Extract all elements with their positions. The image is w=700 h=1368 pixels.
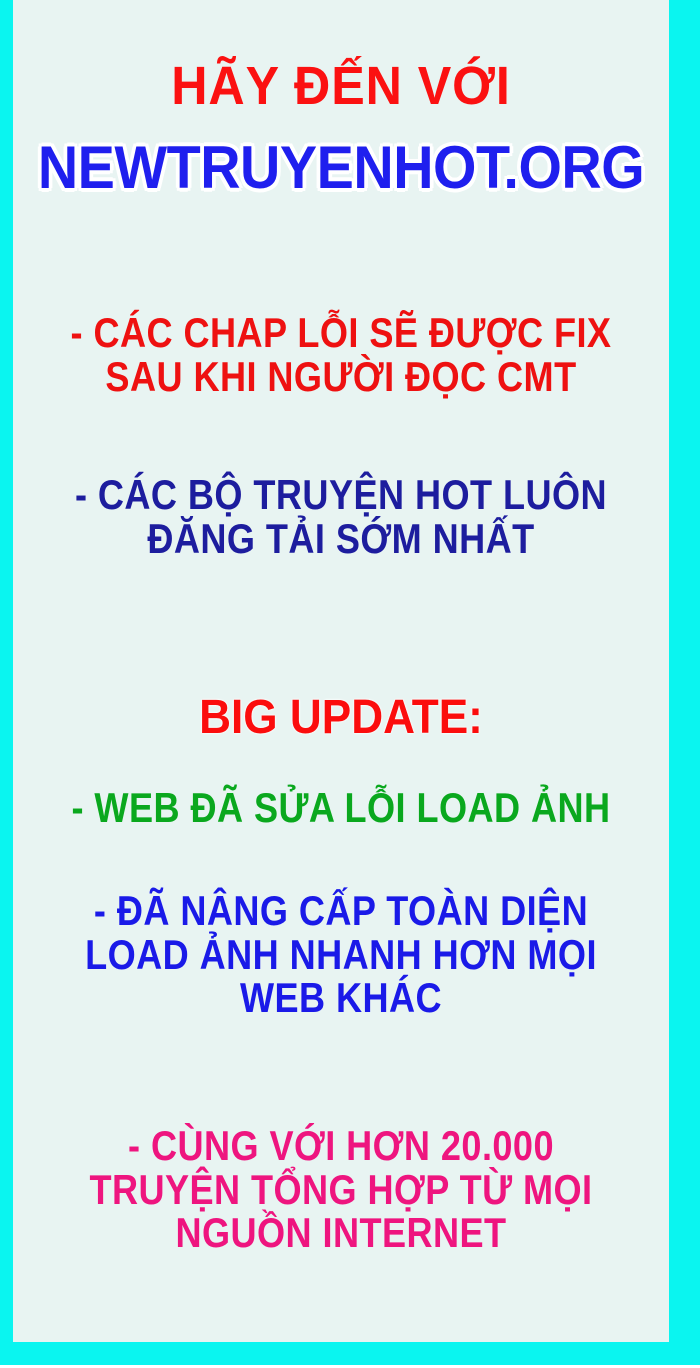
notice-fix-line-1: - CÁC CHAP LỖI SẼ ĐƯỢC FIX <box>59 311 623 355</box>
site-url-block[interactable]: NEWTRUYENHOT.ORG <box>13 137 669 199</box>
update-heading-block: BIG UPDATE: <box>13 693 669 743</box>
notice-hot-line-2: ĐĂNG TẢI SỚM NHẤT <box>59 517 623 561</box>
update-count-line-1: - CÙNG VỚI HƠN 20.000 <box>59 1124 623 1168</box>
update-heading-text: BIG UPDATE: <box>39 693 643 743</box>
headline-text: HÃY ĐẾN VỚI <box>36 58 646 114</box>
update-loadfix-block: - WEB ĐÃ SỬA LỖI LOAD ẢNH <box>13 786 669 830</box>
right-accent-band <box>669 0 700 1366</box>
promo-banner: HÃY ĐẾN VỚI NEWTRUYENHOT.ORG - CÁC CHAP … <box>0 0 700 1368</box>
banner-content: HÃY ĐẾN VỚI NEWTRUYENHOT.ORG - CÁC CHAP … <box>13 0 669 1343</box>
bottom-accent-band <box>0 1342 700 1365</box>
headline-block: HÃY ĐẾN VỚI <box>13 58 669 114</box>
update-count-line-3: NGUỒN INTERNET <box>59 1211 623 1255</box>
notice-fix-line-2: SAU KHI NGƯỜI ĐỌC CMT <box>59 355 623 399</box>
left-accent-band <box>0 0 13 1366</box>
update-upgrade-line-3: WEB KHÁC <box>59 976 623 1020</box>
update-count-line-2: TRUYỆN TỔNG HỢP TỪ MỌI <box>59 1168 623 1212</box>
notice-hot-block: - CÁC BỘ TRUYỆN HOT LUÔN ĐĂNG TẢI SỚM NH… <box>13 473 669 560</box>
update-upgrade-block: - ĐÃ NÂNG CẤP TOÀN DIỆN LOAD ẢNH NHANH H… <box>13 889 669 1020</box>
notice-hot-line-1: - CÁC BỘ TRUYỆN HOT LUÔN <box>59 473 623 517</box>
site-url-text[interactable]: NEWTRUYENHOT.ORG <box>36 137 646 199</box>
update-count-block: - CÙNG VỚI HƠN 20.000 TRUYỆN TỔNG HỢP TỪ… <box>13 1124 669 1255</box>
update-loadfix-line-1: - WEB ĐÃ SỬA LỖI LOAD ẢNH <box>59 786 623 830</box>
notice-fix-block: - CÁC CHAP LỖI SẼ ĐƯỢC FIX SAU KHI NGƯỜI… <box>13 311 669 398</box>
update-upgrade-line-2: LOAD ẢNH NHANH HƠN MỌI <box>59 933 623 977</box>
update-upgrade-line-1: - ĐÃ NÂNG CẤP TOÀN DIỆN <box>59 889 623 933</box>
